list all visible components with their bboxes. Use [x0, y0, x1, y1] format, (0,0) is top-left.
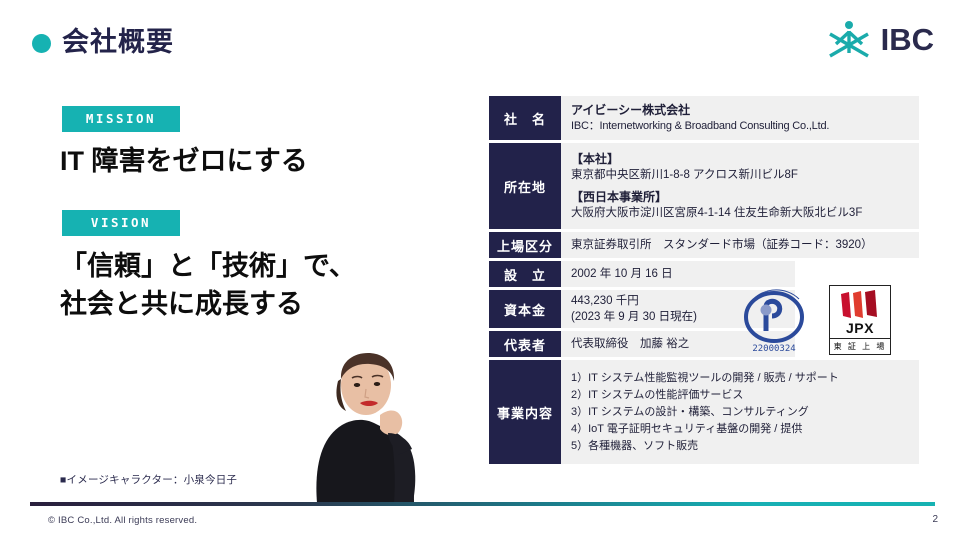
- jpx-listing-badge: JPX 東 証 上 場: [829, 285, 891, 355]
- certification-badges: 22000324 JPX 東 証 上 場: [733, 283, 891, 357]
- mission-tag: MISSION: [62, 106, 180, 132]
- business-item: 1）IT システム性能監視ツールの開発 / 販売 / サポート: [571, 370, 909, 387]
- table-row-company-name: 社 名 アイビーシー株式会社 IBC：Internetworking & Bro…: [489, 96, 919, 140]
- image-character-photo: [262, 345, 477, 503]
- jpx-bars-icon: [837, 290, 883, 320]
- row-label-capital: 資本金: [489, 290, 561, 328]
- hq-address: 東京都中央区新川1-8-8 アクロス新川ビル8F: [571, 167, 909, 183]
- row-label-business: 事業内容: [489, 360, 561, 464]
- footer-divider: [30, 502, 935, 506]
- row-label-established: 設 立: [489, 261, 561, 287]
- ibc-logo: IBC: [826, 20, 934, 60]
- west-office-label: 【西日本事業所】: [571, 189, 909, 205]
- company-profile-table: 社 名 アイビーシー株式会社 IBC：Internetworking & Bro…: [489, 96, 919, 467]
- row-value-listing: 東京証券取引所 スタンダード市場（証券コード：3920）: [561, 232, 919, 258]
- row-label-representative: 代表者: [489, 331, 561, 357]
- page-title: 会社概要: [62, 23, 174, 61]
- mission-statement: IT 障害をゼロにする: [60, 143, 308, 179]
- company-name-en: IBC：Internetworking & Broadband Consulti…: [571, 118, 909, 134]
- ibc-logo-mark-icon: [826, 20, 872, 60]
- row-value-company-name: アイビーシー株式会社 IBC：Internetworking & Broadba…: [561, 96, 919, 140]
- business-item: 5）各種機器、ソフト販売: [571, 438, 909, 455]
- business-item: 3）IT システムの設計・構築、コンサルティング: [571, 404, 909, 421]
- photo-caption: ■イメージキャラクター：小泉今日子: [60, 472, 237, 487]
- row-label-address: 所在地: [489, 143, 561, 229]
- table-row-address: 所在地 【本社】 東京都中央区新川1-8-8 アクロス新川ビル8F 【西日本事業…: [489, 143, 919, 229]
- copyright-text: © IBC Co.,Ltd. All rights reserved.: [48, 515, 197, 526]
- table-row-business: 事業内容 1）IT システム性能監視ツールの開発 / 販売 / サポート 2）I…: [489, 360, 919, 464]
- jpx-label: JPX: [846, 320, 874, 336]
- row-label-listing: 上場区分: [489, 232, 561, 258]
- company-name-ja: アイビーシー株式会社: [571, 102, 909, 118]
- row-label-company-name: 社 名: [489, 96, 561, 140]
- row-value-business: 1）IT システム性能監視ツールの開発 / 販売 / サポート 2）IT システ…: [561, 360, 919, 464]
- vision-tag: VISION: [62, 210, 180, 236]
- row-value-address: 【本社】 東京都中央区新川1-8-8 アクロス新川ビル8F 【西日本事業所】 大…: [561, 143, 919, 229]
- slide-root: 会社概要 IBC MISSION IT 障害をゼロにする VISION 「信頼」…: [0, 0, 960, 540]
- vision-statement: 「信頼」と「技術」で、 社会と共に成長する: [60, 247, 356, 323]
- business-item: 2）IT システムの性能評価サービス: [571, 387, 909, 404]
- woman-portrait-illustration: [262, 345, 477, 503]
- ibc-logo-text: IBC: [881, 23, 934, 57]
- jpx-sublabel: 東 証 上 場: [830, 338, 890, 354]
- business-item: 4）IoT 電子証明セキュリティ基盤の開発 / 提供: [571, 421, 909, 438]
- page-number: 2: [932, 514, 938, 525]
- privacy-mark-number: 22000324: [752, 344, 795, 354]
- table-row-listing: 上場区分 東京証券取引所 スタンダード市場（証券コード：3920）: [489, 232, 919, 258]
- west-office-address: 大阪府大阪市淀川区宮原4-1-14 住友生命新大阪北ビル3F: [571, 205, 909, 221]
- title-bullet-icon: [32, 34, 51, 53]
- hq-label: 【本社】: [571, 151, 909, 167]
- privacy-mark-icon: 22000324: [733, 283, 815, 357]
